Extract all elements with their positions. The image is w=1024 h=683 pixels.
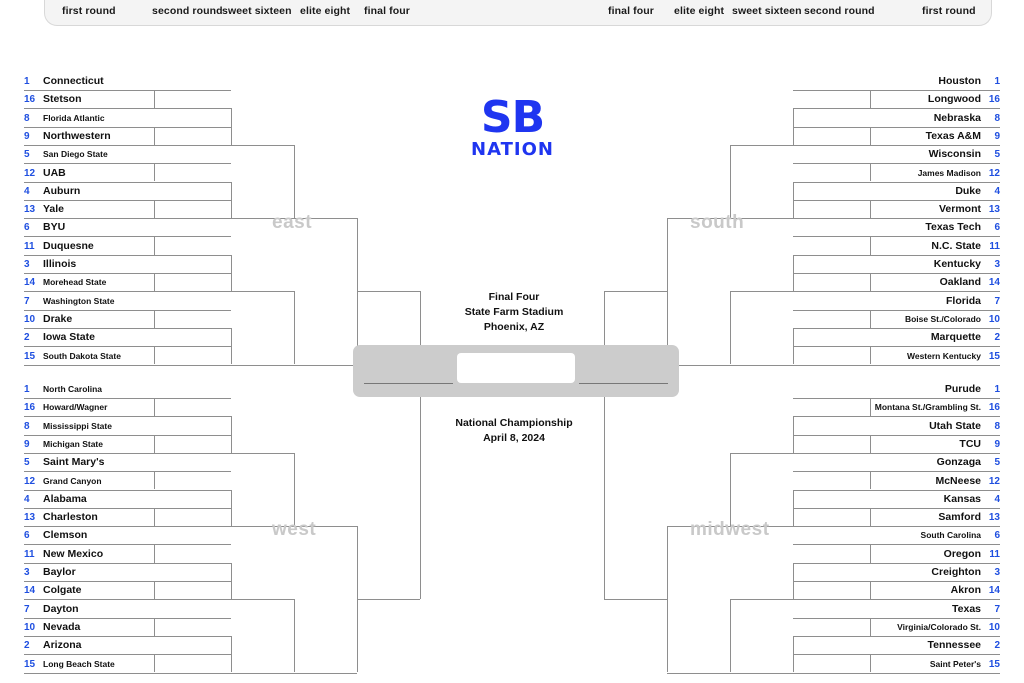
team-row[interactable]: 10Virginia/Colorado St.: [870, 619, 1000, 637]
logo-text-nation: NATION: [455, 141, 570, 159]
team-row[interactable]: 13Samford: [870, 509, 1000, 527]
bracket-hline-r2-slot: [793, 599, 870, 600]
bracket-vline-r1: [870, 310, 871, 328]
bracket-hline-r2-slot: [793, 581, 870, 582]
bracket-hline-r2-slot: [154, 618, 231, 619]
team-row[interactable]: 12UAB: [24, 165, 154, 183]
team-row[interactable]: 15Western Kentucky: [870, 348, 1000, 366]
team-row[interactable]: 4Auburn: [24, 183, 154, 201]
bracket-vline-r1: [154, 310, 155, 328]
bracket-hline-r3-slot: [231, 673, 294, 674]
team-name: Akron: [870, 582, 981, 599]
bracket-hline-r2-slot: [793, 182, 870, 183]
team-seed: 4: [984, 491, 1000, 508]
team-seed: 3: [984, 256, 1000, 273]
bracket-hline-r2-slot: [793, 563, 870, 564]
final-four-info: Final Four State Farm Stadium Phoenix, A…: [384, 290, 644, 335]
team-seed: 11: [24, 546, 40, 563]
team-name: BYU: [43, 219, 154, 236]
team-row[interactable]: 11New Mexico: [24, 546, 154, 564]
bracket-vline-r1: [870, 618, 871, 636]
bracket-vline-r1: [154, 236, 155, 254]
bracket-hline-r2-slot: [154, 108, 231, 109]
team-name: South Dakota State: [43, 348, 154, 365]
final-four-stem-midwest: [604, 599, 667, 600]
team-row[interactable]: 7Washington State: [24, 293, 154, 311]
bracket-vline-r4: [667, 526, 668, 672]
bracket-vline-r2: [793, 255, 794, 292]
bracket-hline-r2-slot: [793, 328, 870, 329]
team-seed: 11: [24, 238, 40, 255]
bracket-hline-r2-slot: [154, 236, 231, 237]
team-name: McNeese: [870, 473, 981, 490]
team-seed: 7: [24, 293, 40, 310]
team-row[interactable]: 9TCU: [870, 436, 1000, 454]
bracket-vline-r2: [793, 108, 794, 145]
team-seed: 5: [984, 146, 1000, 163]
team-seed: 6: [24, 219, 40, 236]
bracket-hline-r2-slot: [154, 182, 231, 183]
bracket-hline-r4-slot: [294, 673, 357, 674]
team-row[interactable]: 8Utah State: [870, 418, 1000, 436]
team-seed: 6: [24, 527, 40, 544]
team-row[interactable]: 4Alabama: [24, 491, 154, 509]
bracket-vline-r2: [793, 416, 794, 453]
team-row[interactable]: 10Boise St./Colorado: [870, 311, 1000, 329]
bracket-vline-r2: [231, 328, 232, 365]
team-row[interactable]: 4Duke: [870, 183, 1000, 201]
bracket-hline-r3-slot: [730, 145, 793, 146]
bracket-hline-r2-slot: [793, 346, 870, 347]
bracket-vline-r1: [870, 200, 871, 218]
team-row[interactable]: 3Kentucky: [870, 256, 1000, 274]
team-row[interactable]: 11Oregon: [870, 546, 1000, 564]
bracket-hline-r2-slot: [154, 471, 231, 472]
team-seed: 16: [24, 399, 40, 416]
championship-info: National Championship April 8, 2024: [384, 416, 644, 446]
team-row[interactable]: 1Connecticut: [24, 73, 154, 91]
team-name: Grand Canyon: [43, 473, 154, 490]
team-row[interactable]: 6BYU: [24, 219, 154, 237]
bracket-hline-r2-slot: [793, 490, 870, 491]
team-name: Nevada: [43, 619, 154, 636]
team-row[interactable]: 7Florida: [870, 293, 1000, 311]
bracket-vline-r4: [667, 218, 668, 364]
team-name: Wisconsin: [870, 146, 981, 163]
bracket-hline-r3-slot: [730, 453, 793, 454]
bracket-hline-r2-slot: [154, 544, 231, 545]
team-row[interactable]: 14Oakland: [870, 274, 1000, 292]
bracket-vline-r2: [793, 563, 794, 600]
bracket-hline-r2-slot: [793, 416, 870, 417]
team-seed: 1: [24, 73, 40, 90]
champion-line-left: [364, 383, 453, 384]
team-seed: 9: [24, 128, 40, 145]
team-seed: 8: [24, 418, 40, 435]
team-seed: 12: [984, 473, 1000, 490]
team-name: Michigan State: [43, 436, 154, 453]
team-seed: 2: [24, 637, 40, 654]
team-row[interactable]: 12McNeese: [870, 473, 1000, 491]
bracket-vline-r1: [870, 127, 871, 145]
team-name: Illinois: [43, 256, 154, 273]
team-row[interactable]: 2Arizona: [24, 637, 154, 655]
team-name: South Carolina: [870, 527, 981, 544]
team-row[interactable]: 5Gonzaga: [870, 454, 1000, 472]
bracket-vline-r1: [870, 544, 871, 562]
bracket-hline-r2-slot: [793, 453, 870, 454]
team-name: Tennessee: [870, 637, 981, 654]
sb-nation-logo: SB NATION: [455, 96, 570, 159]
team-row[interactable]: 15Saint Peter's: [870, 656, 1000, 674]
team-row[interactable]: 11N.C. State: [870, 238, 1000, 256]
team-name: Utah State: [870, 418, 981, 435]
bracket-hline-r2-slot: [154, 563, 231, 564]
team-seed: 4: [24, 491, 40, 508]
team-row[interactable]: 4Kansas: [870, 491, 1000, 509]
team-seed: 4: [24, 183, 40, 200]
team-name: James Madison: [870, 165, 981, 182]
bracket-vline-r2: [793, 182, 794, 219]
team-row[interactable]: 14Akron: [870, 582, 1000, 600]
team-seed: 9: [984, 128, 1000, 145]
bracket-vline-r1: [154, 273, 155, 291]
round-label-right-sweet-sixteen: sweet sixteen: [732, 5, 802, 17]
team-name: Stetson: [43, 91, 154, 108]
round-label-right-second-round: second round: [804, 5, 875, 17]
round-label-left-final-four: final four: [364, 5, 410, 17]
bracket-vline-r1: [870, 273, 871, 291]
team-seed: 3: [984, 564, 1000, 581]
bracket-hline-r2-slot: [154, 581, 231, 582]
bracket-hline-r2-slot: [793, 273, 870, 274]
team-name: Duke: [870, 183, 981, 200]
bracket-vline-r1: [154, 90, 155, 108]
bracket-hline-r2-slot: [793, 218, 870, 219]
team-row[interactable]: 11Duquesne: [24, 238, 154, 256]
team-name: Texas A&M: [870, 128, 981, 145]
team-name: Western Kentucky: [870, 348, 981, 365]
bracket-vline-r1: [870, 508, 871, 526]
bracket-vline-r1: [154, 471, 155, 489]
bracket-hline-r2-slot: [154, 163, 231, 164]
region-label-south: south: [690, 212, 744, 234]
team-seed: 10: [984, 311, 1000, 328]
team-name: Florida Atlantic: [43, 110, 154, 127]
bracket-vline-r3: [294, 453, 295, 526]
bracket-vline-r1: [154, 398, 155, 416]
team-name: Marquette: [870, 329, 981, 346]
team-row[interactable]: 16Stetson: [24, 91, 154, 109]
bracket-hline-r2-slot: [154, 398, 231, 399]
bracket-vline-r1: [154, 544, 155, 562]
final-four-venue: State Farm Stadium: [384, 305, 644, 320]
bracket-vline-r1: [870, 398, 871, 416]
team-seed: 9: [984, 436, 1000, 453]
bracket-hline-r2-slot: [793, 365, 870, 366]
bracket-vline-r2: [793, 328, 794, 365]
bracket-hline-r3-slot: [730, 673, 793, 674]
team-row[interactable]: 1Purude: [870, 381, 1000, 399]
team-name: Howard/Wagner: [43, 399, 154, 416]
team-row[interactable]: 7Texas: [870, 601, 1000, 619]
team-seed: 1: [24, 381, 40, 398]
bracket-vline-r1: [154, 618, 155, 636]
team-seed: 5: [24, 146, 40, 163]
team-row[interactable]: 8Mississippi State: [24, 418, 154, 436]
team-row[interactable]: 15South Dakota State: [24, 348, 154, 366]
champion-entry-slot[interactable]: [457, 353, 575, 383]
team-name: New Mexico: [43, 546, 154, 563]
team-row[interactable]: 16Montana St./Grambling St.: [870, 399, 1000, 417]
bracket-vline-r1: [870, 236, 871, 254]
team-name: Charleston: [43, 509, 154, 526]
bracket-hline-r2-slot: [154, 526, 231, 527]
bracket-hline-r2-slot: [793, 508, 870, 509]
team-name: Saint Peter's: [870, 656, 981, 673]
team-row[interactable]: 1Houston: [870, 73, 1000, 91]
bracket-hline-r2-slot: [154, 636, 231, 637]
bracket-hline-r3-slot: [231, 365, 294, 366]
bracket-vline-r1: [154, 163, 155, 181]
team-name: Oakland: [870, 274, 981, 291]
championship-title: National Championship: [384, 416, 644, 431]
team-row[interactable]: 3Creighton: [870, 564, 1000, 582]
bracket-hline-r2-slot: [154, 599, 231, 600]
team-seed: 8: [984, 110, 1000, 127]
team-name: N.C. State: [870, 238, 981, 255]
bracket-hline-r2-slot: [793, 291, 870, 292]
bracket-hline-r2-slot: [154, 346, 231, 347]
team-row[interactable]: 2Tennessee: [870, 637, 1000, 655]
bracket-vline-r2: [231, 255, 232, 292]
team-row[interactable]: 7Dayton: [24, 601, 154, 619]
team-seed: 14: [984, 582, 1000, 599]
team-name: Washington State: [43, 293, 154, 310]
team-name: Montana St./Grambling St.: [870, 399, 981, 416]
bracket-hline-r2-slot: [793, 435, 870, 436]
team-seed: 10: [984, 619, 1000, 636]
bracket-hline-r2-slot: [154, 90, 231, 91]
bracket-vline-r1: [154, 435, 155, 453]
team-seed: 5: [24, 454, 40, 471]
team-name: Samford: [870, 509, 981, 526]
team-seed: 11: [984, 238, 1000, 255]
bracket-hline-r2-slot: [154, 673, 231, 674]
team-row[interactable]: 10Drake: [24, 311, 154, 329]
bracket-hline-r2-slot: [793, 398, 870, 399]
team-seed: 10: [24, 311, 40, 328]
team-row[interactable]: 3Illinois: [24, 256, 154, 274]
team-name: Arizona: [43, 637, 154, 654]
bracket-vline-r2: [231, 108, 232, 145]
bracket-hline-r2-slot: [793, 200, 870, 201]
team-seed: 7: [984, 293, 1000, 310]
team-seed: 7: [24, 601, 40, 618]
bracket-vline-r1: [154, 127, 155, 145]
bracket-hline-r2-slot: [154, 435, 231, 436]
bracket-hline-r2-slot: [154, 490, 231, 491]
bracket-hline-r2-slot: [154, 127, 231, 128]
team-seed: 2: [984, 637, 1000, 654]
team-seed: 15: [984, 656, 1000, 673]
team-name: Virginia/Colorado St.: [870, 619, 981, 636]
team-name: Northwestern: [43, 128, 154, 145]
bracket-hline-r2-slot: [154, 200, 231, 201]
team-row[interactable]: 3Baylor: [24, 564, 154, 582]
bracket-vline-r1: [870, 90, 871, 108]
team-row[interactable]: 8Florida Atlantic: [24, 110, 154, 128]
team-seed: 13: [24, 201, 40, 218]
bracket-hline-r2-slot: [793, 654, 870, 655]
round-label-right-final-four: final four: [608, 5, 654, 17]
team-seed: 15: [984, 348, 1000, 365]
team-name: Connecticut: [43, 73, 154, 90]
team-name: Iowa State: [43, 329, 154, 346]
bracket-hline-r2-slot: [793, 636, 870, 637]
team-name: Purude: [870, 381, 981, 398]
team-seed: 3: [24, 564, 40, 581]
bracket-vline-r1: [870, 163, 871, 181]
team-row[interactable]: 5Saint Mary's: [24, 454, 154, 472]
team-row[interactable]: 14Colgate: [24, 582, 154, 600]
bracket-vline-r2: [231, 636, 232, 673]
bracket-hline-r3-slot: [730, 291, 793, 292]
team-row[interactable]: 13Yale: [24, 201, 154, 219]
bracket-vline-r1: [870, 581, 871, 599]
bracket-hline-r2-slot: [793, 673, 870, 674]
team-name: Vermont: [870, 201, 981, 218]
team-row[interactable]: 5Wisconsin: [870, 146, 1000, 164]
region-label-midwest: midwest: [690, 519, 770, 541]
team-name: Clemson: [43, 527, 154, 544]
team-row[interactable]: 2Marquette: [870, 329, 1000, 347]
team-row[interactable]: 12James Madison: [870, 165, 1000, 183]
team-name: Creighton: [870, 564, 981, 581]
team-seed: 16: [984, 399, 1000, 416]
bracket-hline-r3-slot: [730, 599, 793, 600]
team-name: TCU: [870, 436, 981, 453]
team-row[interactable]: 13Charleston: [24, 509, 154, 527]
bracket-hline-r2-slot: [154, 453, 231, 454]
team-row[interactable]: 9Michigan State: [24, 436, 154, 454]
team-name: UAB: [43, 165, 154, 182]
round-label-left-sweet-sixteen: sweet sixteen: [222, 5, 292, 17]
bracket-vline-r3: [730, 291, 731, 364]
team-seed: 13: [984, 509, 1000, 526]
team-name: Mississippi State: [43, 418, 154, 435]
team-row[interactable]: 1North Carolina: [24, 381, 154, 399]
bracket-hline-r2-slot: [793, 526, 870, 527]
team-seed: 2: [984, 329, 1000, 346]
bracket-hline-r2-slot: [793, 310, 870, 311]
bracket-vline-r1: [154, 581, 155, 599]
bracket-hline-r2-slot: [793, 471, 870, 472]
team-name: Boise St./Colorado: [870, 311, 981, 328]
team-row[interactable]: 14Morehead State: [24, 274, 154, 292]
team-row[interactable]: 12Grand Canyon: [24, 473, 154, 491]
team-row[interactable]: 6South Carolina: [870, 527, 1000, 545]
bracket-hline-r4-slot: [667, 673, 730, 674]
team-seed: 3: [24, 256, 40, 273]
team-seed: 5: [984, 454, 1000, 471]
bracket-hline-r2-slot: [793, 618, 870, 619]
team-name: Colgate: [43, 582, 154, 599]
bracket-hline-r2-slot: [793, 544, 870, 545]
team-seed: 1: [984, 381, 1000, 398]
team-row[interactable]: 6Texas Tech: [870, 219, 1000, 237]
bracket-vline-r3: [294, 291, 295, 364]
team-seed: 6: [984, 219, 1000, 236]
team-seed: 13: [984, 201, 1000, 218]
championship-date: April 8, 2024: [384, 431, 644, 446]
bracket-hline-r3-slot: [231, 599, 294, 600]
bracket-vline-r1: [870, 435, 871, 453]
team-row[interactable]: 2Iowa State: [24, 329, 154, 347]
team-row[interactable]: 10Nevada: [24, 619, 154, 637]
bracket-vline-r1: [154, 346, 155, 364]
team-row[interactable]: 16Howard/Wagner: [24, 399, 154, 417]
team-name: Gonzaga: [870, 454, 981, 471]
bracket-vline-r2: [231, 182, 232, 219]
bracket-hline-r2-slot: [793, 145, 870, 146]
bracket-hline-r2-slot: [154, 310, 231, 311]
bracket-vline-r2: [793, 490, 794, 527]
bracket-hline-r2-slot: [154, 145, 231, 146]
team-row[interactable]: 9Texas A&M: [870, 128, 1000, 146]
team-seed: 1: [984, 73, 1000, 90]
bracket-vline-r1: [870, 346, 871, 364]
round-label-left-second-round: second round: [152, 5, 223, 17]
team-seed: 2: [24, 329, 40, 346]
team-name: Long Beach State: [43, 656, 154, 673]
team-seed: 12: [24, 165, 40, 182]
team-row[interactable]: 5San Diego State: [24, 146, 154, 164]
team-row[interactable]: 9Northwestern: [24, 128, 154, 146]
team-name: Saint Mary's: [43, 454, 154, 471]
final-four-title: Final Four: [384, 290, 644, 305]
team-name: Yale: [43, 201, 154, 218]
bracket-hline-r2-slot: [793, 127, 870, 128]
team-row[interactable]: 13Vermont: [870, 201, 1000, 219]
team-row[interactable]: 15Long Beach State: [24, 656, 154, 674]
team-seed: 9: [24, 436, 40, 453]
team-seed: 16: [984, 91, 1000, 108]
team-row[interactable]: 16Longwood: [870, 91, 1000, 109]
team-name: Nebraska: [870, 110, 981, 127]
team-seed: 14: [24, 582, 40, 599]
bracket-vline-r1: [870, 471, 871, 489]
bracket-hline-r2-slot: [793, 163, 870, 164]
bracket-hline-r2-slot: [154, 508, 231, 509]
bracket-vline-r3: [294, 145, 295, 218]
team-row[interactable]: 8Nebraska: [870, 110, 1000, 128]
team-name: Drake: [43, 311, 154, 328]
bracket-hline-r2-slot: [793, 255, 870, 256]
bracket-hline-r2-slot: [154, 654, 231, 655]
team-name: North Carolina: [43, 381, 154, 398]
team-seed: 8: [24, 110, 40, 127]
bracket-vline-r2: [231, 416, 232, 453]
round-label-left-elite-eight: elite eight: [300, 5, 350, 17]
bracket-hline-r4-slot: [294, 365, 357, 366]
team-name: Texas Tech: [870, 219, 981, 236]
bracket-vline-r3: [730, 453, 731, 526]
team-name: Houston: [870, 73, 981, 90]
logo-text-sb: SB: [455, 96, 570, 140]
team-row[interactable]: 6Clemson: [24, 527, 154, 545]
bracket-hline-r3-slot: [231, 291, 294, 292]
